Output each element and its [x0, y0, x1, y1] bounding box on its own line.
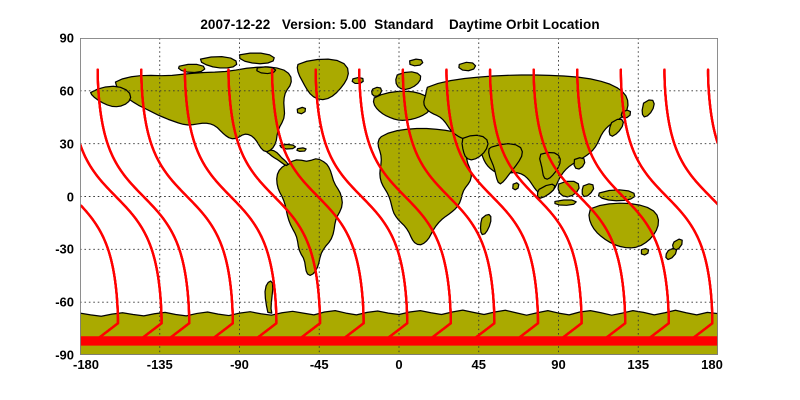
land-british-isles — [372, 87, 382, 96]
xtick-label: -45 — [310, 357, 329, 372]
map-plot-area — [80, 38, 718, 355]
land-novaya-zemlya — [459, 62, 476, 70]
xtick-label: -90 — [230, 357, 249, 372]
xtick-label: 180 — [701, 357, 723, 372]
xtick-label: 0 — [395, 357, 402, 372]
xtick-label: -135 — [147, 357, 173, 372]
ytick-label: 60 — [60, 83, 74, 98]
land-hispaniola — [297, 148, 306, 152]
ytick-label: 90 — [60, 31, 74, 46]
land-sri-lanka — [513, 183, 519, 190]
land-java — [555, 200, 576, 205]
xtick-label: -180 — [73, 357, 99, 372]
land-newfoundland — [297, 107, 305, 113]
page-title: 2007-12-22 Version: 5.00 Standard Daytim… — [0, 17, 800, 32]
world-map-svg — [80, 38, 718, 355]
ytick-label: 0 — [67, 189, 74, 204]
xtick-label: 90 — [551, 357, 565, 372]
xtick-label: 135 — [627, 357, 649, 372]
ytick-label: -60 — [55, 295, 74, 310]
xtick-label: 45 — [472, 357, 486, 372]
land-svalbard — [410, 59, 423, 66]
land-arctic-islands-3 — [179, 64, 205, 72]
ytick-label: -30 — [55, 242, 74, 257]
ytick-label: -90 — [55, 348, 74, 363]
land-iceland — [352, 77, 363, 83]
orbit-location-figure: 2007-12-22 Version: 5.00 Standard Daytim… — [0, 0, 800, 400]
ytick-label: 30 — [60, 136, 74, 151]
